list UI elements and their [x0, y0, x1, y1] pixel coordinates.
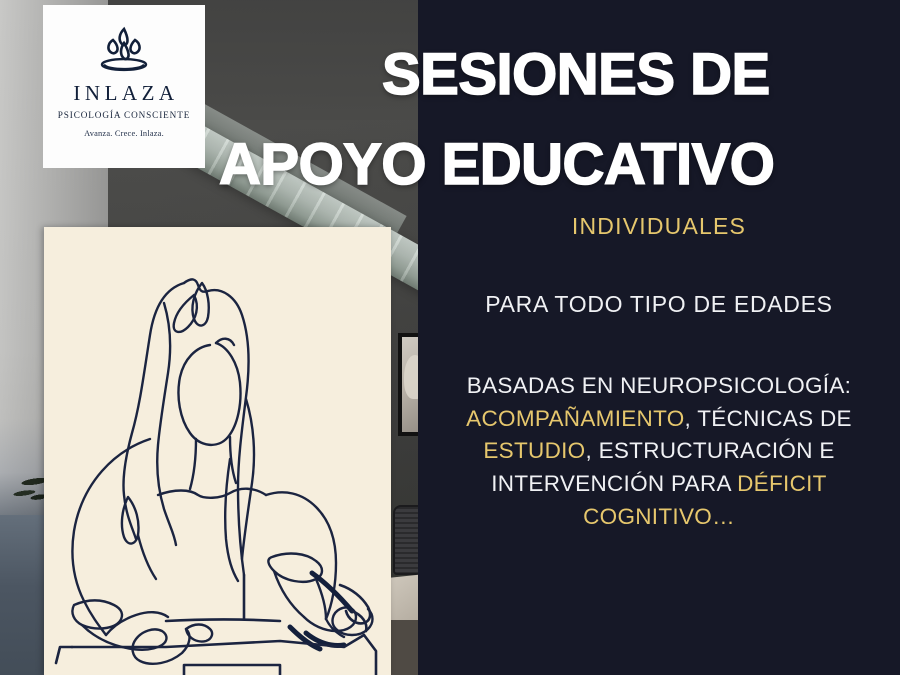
logo-brand-name: INLAZA [69, 81, 178, 106]
inlaza-logo-card: INLAZA PSICOLOGÍA CONSCIENTE Avanza. Cre… [43, 5, 205, 168]
logo-tagline: Avanza. Crece. Inlaza. [84, 129, 164, 138]
paragraph-highlight-acompanamiento: ACOMPAÑAMIENTO [466, 406, 684, 431]
line-art-woman-writing-illustration [44, 227, 391, 675]
paragraph-seg-3: , TÉCNICAS DE [685, 406, 852, 431]
subtitle-edades: PARA TODO TIPO DE EDADES [418, 290, 900, 320]
logo-subtitle: PSICOLOGÍA CONSCIENTE [58, 110, 190, 120]
line-art-panel [44, 227, 391, 675]
paragraph-highlight-estudio: ESTUDIO [483, 438, 585, 463]
poster-body-copy: INDIVIDUALES PARA TODO TIPO DE EDADES BA… [418, 212, 900, 534]
inlaza-lotus-mark-icon [91, 23, 157, 75]
subtitle-individuales: INDIVIDUALES [418, 212, 900, 242]
poster-canvas: INLAZA PSICOLOGÍA CONSCIENTE Avanza. Cre… [0, 0, 900, 675]
description-paragraph: BASADAS EN NEUROPSICOLOGÍA: ACOMPAÑAMIEN… [418, 370, 900, 534]
paragraph-seg-1: BASADAS EN NEUROPSICOLOGÍA: [467, 373, 851, 398]
